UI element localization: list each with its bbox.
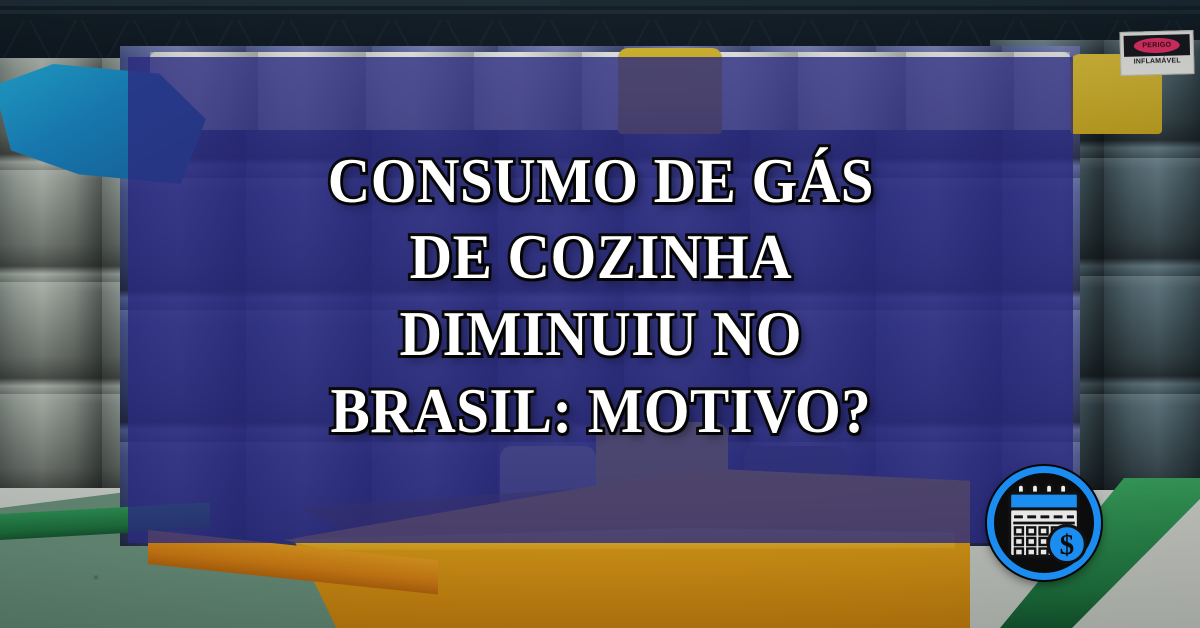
dollar-symbol: $	[1060, 529, 1075, 561]
calendar-dollar-badge[interactable]: $	[987, 466, 1101, 580]
headline-line-2: DE COZINHA	[409, 224, 791, 291]
warning-sign-perigo-label: PERIGO	[1134, 37, 1180, 53]
headline-line-1: CONSUMO DE GÁS	[327, 148, 873, 215]
warning-sign: PERIGO INFLAMÁVEL	[1119, 30, 1194, 76]
headline-line-4: BRASIL: MOTIVO?	[330, 378, 871, 445]
warning-sign-bar: PERIGO	[1124, 34, 1191, 57]
warning-sign-inflamavel-label: INFLAMÁVEL	[1134, 57, 1181, 65]
headline-block: CONSUMO DE GÁS DE COZINHA DIMINUIU NO BR…	[128, 57, 1073, 543]
calendar-dollar-icon: $	[1000, 479, 1088, 567]
banner-stage: PERIGO INFLAMÁVEL CONSUMO DE GÁS DE COZI…	[0, 0, 1200, 628]
headline-line-3: DIMINUIU NO	[399, 301, 802, 368]
